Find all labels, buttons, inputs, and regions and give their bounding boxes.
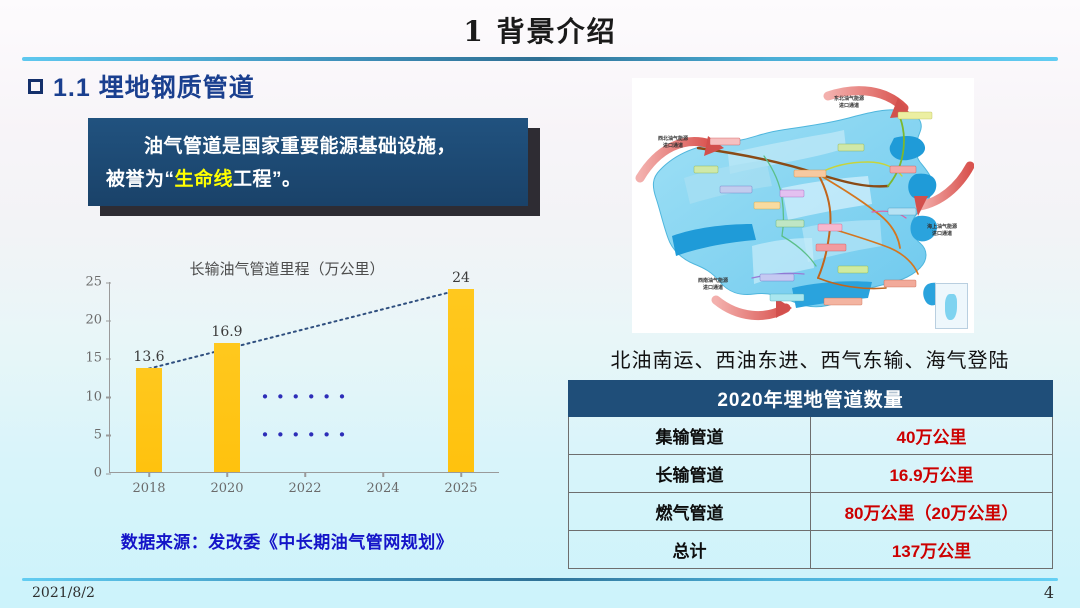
footer-date: 2021/8/2: [32, 585, 95, 601]
chart-bar: [214, 343, 240, 472]
table-cell-value: 80万公里（20万公里）: [811, 493, 1053, 531]
table-cell-name: 长输管道: [569, 455, 811, 493]
chart-x-tickmark: [148, 472, 150, 477]
trend-dotted-line: [110, 282, 499, 472]
chart-x-tick: 2020: [210, 481, 243, 496]
pipeline-mileage-bar-chart: 长输油气管道里程（万公里） 0510152025 201820202022202…: [62, 258, 512, 508]
chart-title: 长输油气管道里程（万公里）: [62, 258, 512, 279]
buried-pipeline-table: 2020年埋地管道数量 集输管道40万公里长输管道16.9万公里燃气管道80万公…: [568, 380, 1053, 569]
section-heading-label: 1.1 埋地钢质管道: [53, 68, 255, 104]
map-inset-south-sea: [935, 283, 968, 329]
banner-text: 油气管道是国家重要能源基础设施， 被誉为“生命线工程”。: [88, 118, 528, 206]
chart-x-tickmark: [382, 472, 384, 477]
chart-bar-label: 24: [452, 270, 470, 286]
highlight-banner: 油气管道是国家重要能源基础设施， 被誉为“生命线工程”。: [88, 118, 528, 206]
table-header-cell: 2020年埋地管道数量: [569, 381, 1053, 417]
table-header-row: 2020年埋地管道数量: [569, 381, 1053, 417]
table-cell-name: 燃气管道: [569, 493, 811, 531]
map-arrow-label-northeast: 东北油气能源 进口通道: [826, 96, 872, 110]
china-pipeline-map: 西北油气能源 进口通道 东北油气能源 进口通道 海上油气能源 进口通道 西南油气…: [632, 78, 974, 333]
chart-bar: [448, 289, 474, 472]
chart-y-tick: 10: [85, 389, 102, 404]
chart-y-tick: 20: [85, 313, 102, 328]
chart-x-tick: 2025: [444, 481, 477, 496]
chart-y-tick: 15: [85, 351, 102, 366]
chart-x-tick: 2022: [288, 481, 321, 496]
map-arrow-label-northwest: 西北油气能源 进口通道: [650, 136, 696, 150]
table-cell-value: 40万公里: [811, 417, 1053, 455]
footer-divider: [22, 578, 1058, 581]
table-cell-value: 16.9万公里: [811, 455, 1053, 493]
map-graphic: [632, 78, 974, 333]
banner-line-2-prefix: 被誉为“: [106, 169, 175, 190]
banner-highlight-word: 生命线: [175, 169, 234, 190]
page-title: 1 背景介绍: [0, 10, 1080, 50]
chart-ellipsis-row: • • • • • •: [262, 426, 347, 443]
map-arrow-label-southwest: 西南油气能源 进口通道: [690, 278, 736, 292]
chart-x-tick: 2024: [366, 481, 399, 496]
table-cell-name: 总计: [569, 531, 811, 569]
table-body: 集输管道40万公里长输管道16.9万公里燃气管道80万公里（20万公里）总计13…: [569, 417, 1053, 569]
square-bullet-icon: [28, 79, 43, 94]
table-cell-name: 集输管道: [569, 417, 811, 455]
table-caption: 北油南运、西油东进、西气东输、海气登陆: [560, 344, 1060, 373]
chart-y-tick: 5: [94, 427, 102, 442]
table-row: 总计137万公里: [569, 531, 1053, 569]
title-divider: [22, 57, 1058, 61]
table-cell-value: 137万公里: [811, 531, 1053, 569]
footer-page-number: 4: [1044, 583, 1054, 602]
chart-x-tick: 2018: [132, 481, 165, 496]
table-row: 长输管道16.9万公里: [569, 455, 1053, 493]
chart-ellipsis-row: • • • • • •: [262, 388, 347, 405]
map-arrow-label-maritime: 海上油气能源 进口通道: [918, 224, 966, 238]
chart-x-tickmark: [226, 472, 228, 477]
chart-bar-label: 16.9: [211, 324, 242, 340]
banner-line-1: 油气管道是国家重要能源基础设施，: [144, 136, 456, 157]
banner-line-2: 被誉为“生命线工程”。: [106, 164, 518, 195]
chart-bar-label: 13.6: [133, 349, 164, 365]
table-row: 燃气管道80万公里（20万公里）: [569, 493, 1053, 531]
chart-plot-area: 0510152025 20182020202220242025 13.616.9…: [109, 282, 499, 473]
chart-source-note: 数据来源：发改委《中长期油气管网规划》: [62, 528, 512, 553]
chart-y-tick: 0: [94, 466, 102, 481]
map-inset-shape: [945, 294, 957, 320]
banner-line-2-suffix: 工程”。: [233, 169, 302, 190]
section-heading: 1.1 埋地钢质管道: [28, 68, 255, 104]
chart-x-tickmark: [304, 472, 306, 477]
chart-bar: [136, 368, 162, 472]
chart-x-tickmark: [460, 472, 462, 477]
slide-canvas: 1 背景介绍 1.1 埋地钢质管道 油气管道是国家重要能源基础设施， 被誉为“生…: [0, 0, 1080, 608]
table-row: 集输管道40万公里: [569, 417, 1053, 455]
chart-y-tick: 25: [85, 275, 102, 290]
